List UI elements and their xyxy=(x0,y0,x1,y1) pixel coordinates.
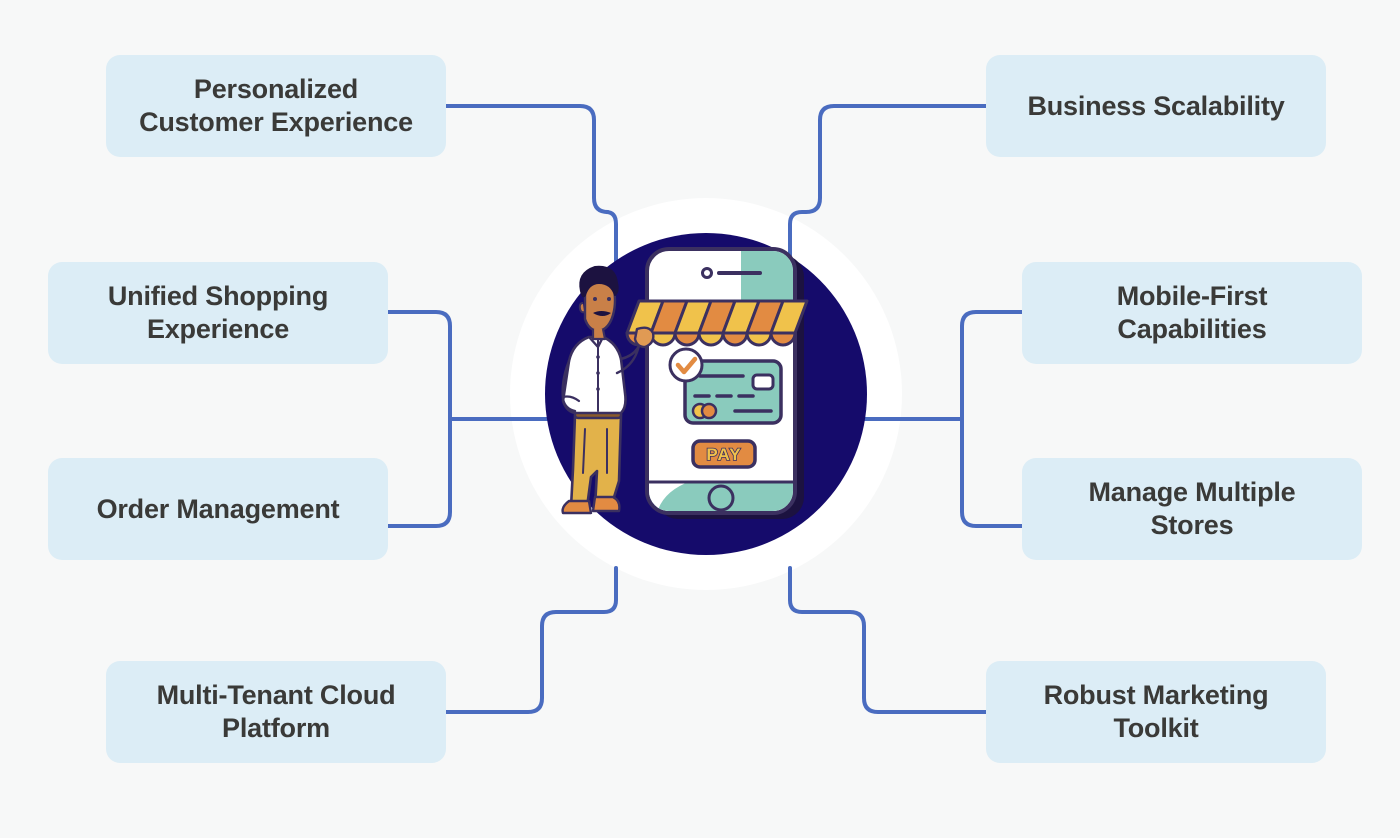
feature-label: Mobile-First Capabilities xyxy=(1117,280,1268,346)
feature-chip-robust-marketing-toolkit[interactable]: Robust Marketing Toolkit xyxy=(986,661,1326,763)
card-chip xyxy=(753,375,773,389)
feature-chip-mobile-first-capabilities[interactable]: Mobile-First Capabilities xyxy=(1022,262,1362,364)
feature-label: Multi-Tenant Cloud Platform xyxy=(157,679,396,745)
connector-order-management xyxy=(388,419,450,526)
connector-bottom-right xyxy=(790,568,986,712)
connector-manage-multiple-stores xyxy=(962,419,1022,526)
feature-chip-unified-shopping-experience[interactable]: Unified Shopping Experience xyxy=(48,262,388,364)
person-trousers xyxy=(571,415,621,507)
connector-unified-shopping-experience xyxy=(388,312,450,419)
person-hand xyxy=(635,328,653,347)
feature-label: Personalized Customer Experience xyxy=(139,73,413,139)
pay-button: PAY xyxy=(693,441,755,467)
person-shoe-left xyxy=(563,501,591,513)
feature-label: Robust Marketing Toolkit xyxy=(1044,679,1269,745)
mindmap-canvas: PAY xyxy=(0,0,1400,838)
feature-label: Manage Multiple Stores xyxy=(1088,476,1295,542)
awning-stripes xyxy=(627,301,807,333)
svg-text:PAY: PAY xyxy=(706,445,741,464)
connector-bottom-left xyxy=(446,568,616,712)
feature-chip-business-scalability[interactable]: Business Scalability xyxy=(986,55,1326,157)
feature-chip-multi-tenant-cloud-platform[interactable]: Multi-Tenant Cloud Platform xyxy=(106,661,446,763)
feature-chip-manage-multiple-stores[interactable]: Manage Multiple Stores xyxy=(1022,458,1362,560)
feature-chip-personalized-customer-experience[interactable]: Personalized Customer Experience xyxy=(106,55,446,157)
check-badge-icon xyxy=(670,349,702,381)
connector-mobile-first-capabilities xyxy=(962,312,1022,419)
feature-chip-order-management[interactable]: Order Management xyxy=(48,458,388,560)
card-logo-circle-front xyxy=(702,404,716,418)
feature-label: Business Scalability xyxy=(1027,90,1284,123)
person-shoe-right xyxy=(593,497,619,511)
mobile-commerce-illustration: PAY xyxy=(545,233,867,555)
feature-label: Unified Shopping Experience xyxy=(108,280,328,346)
feature-label: Order Management xyxy=(97,493,340,526)
